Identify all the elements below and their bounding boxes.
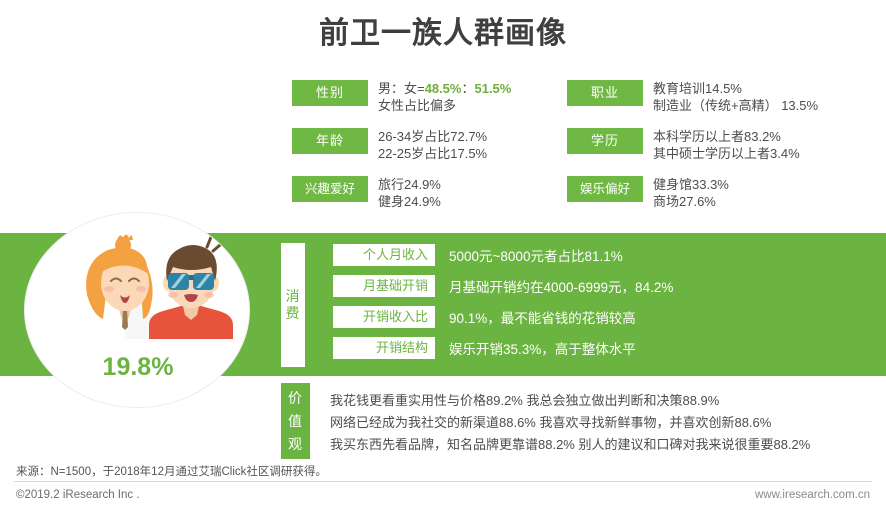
education-line-2: 其中硕士学历以上者3.4% [653, 145, 800, 162]
consumption-value-expense-ratio: 90.1%，最不能省钱的花销较高 [449, 307, 636, 327]
footer-url[interactable]: www.iresearch.com.cn [755, 489, 870, 501]
gender-note-line: 女性占比偏多 [378, 97, 511, 114]
attribute-badge-entertainment: 娱乐偏好 [567, 176, 643, 202]
audience-percent: 19.8% [25, 353, 250, 382]
attribute-cell-entertainment: 娱乐偏好 健身馆33.3% 商场27.6% [567, 176, 886, 210]
consumption-label-expense-ratio: 开销收入比 [333, 306, 435, 328]
consumption-label-char-1: 消费 [286, 288, 301, 321]
attribute-grid: 性别 男：女=48.5%：51.5% 女性占比偏多 职业 教育培训14.5% 制… [292, 80, 886, 224]
consumption-label-basic-expense: 月基础开销 [333, 275, 435, 297]
values-section-label: 价值观 [281, 383, 310, 459]
male-avatar-icon [149, 237, 233, 339]
audience-circle: 19.8% [24, 212, 250, 408]
attribute-cell-education: 学历 本科学历以上者83.2% 其中硕士学历以上者3.4% [567, 128, 886, 162]
consumption-label-expense-structure: 开销结构 [333, 337, 435, 359]
attribute-cell-occupation: 职业 教育培训14.5% 制造业（传统+高精） 13.5% [567, 80, 886, 114]
attribute-text-entertainment: 健身馆33.3% 商场27.6% [653, 176, 729, 210]
attribute-badge-education: 学历 [567, 128, 643, 154]
consumption-row: 开销结构 娱乐开销35.3%，高于整体水平 [333, 336, 873, 360]
gender-female-pct: 51.5% [474, 81, 511, 96]
attribute-text-interests: 旅行24.9% 健身24.9% [378, 176, 441, 210]
footer-source: 来源：N=1500，于2018年12月通过艾瑞Click社区调研获得。 [16, 463, 327, 479]
gender-ratio-line: 男：女=48.5%：51.5% [378, 80, 511, 97]
attribute-text-gender: 男：女=48.5%：51.5% 女性占比偏多 [378, 80, 511, 114]
consumption-row: 月基础开销 月基础开销约在4000-6999元，84.2% [333, 274, 873, 298]
attribute-cell-interests: 兴趣爱好 旅行24.9% 健身24.9% [292, 176, 567, 210]
consumption-rows: 个人月收入 5000元~8000元者占比81.1% 月基础开销 月基础开销约在4… [333, 243, 873, 367]
consumption-section-label: 消费 [281, 243, 305, 367]
gender-ratio-sep: ： [461, 81, 474, 96]
consumption-label-income: 个人月收入 [333, 244, 435, 266]
page-title: 前卫一族人群画像 [0, 8, 886, 52]
attribute-badge-gender: 性别 [292, 80, 368, 106]
attribute-badge-occupation: 职业 [567, 80, 643, 106]
attribute-badge-interests: 兴趣爱好 [292, 176, 368, 202]
age-line-1: 26-34岁占比72.7% [378, 128, 487, 145]
values-line-2: 网络已经成为我社交的新渠道88.6% 我喜欢寻找新鲜事物，并喜欢创新88.6% [330, 412, 886, 434]
entertainment-line-1: 健身馆33.3% [653, 176, 729, 193]
interests-line-1: 旅行24.9% [378, 176, 441, 193]
attribute-text-education: 本科学历以上者83.2% 其中硕士学历以上者3.4% [653, 128, 800, 162]
consumption-value-expense-structure: 娱乐开销35.3%，高于整体水平 [449, 338, 636, 358]
footer-divider [14, 481, 872, 482]
attribute-text-age: 26-34岁占比72.7% 22-25岁占比17.5% [378, 128, 487, 162]
gender-male-pct: 48.5% [425, 81, 462, 96]
consumption-row: 开销收入比 90.1%，最不能省钱的花销较高 [333, 305, 873, 329]
avatar-pair-illustration [25, 231, 250, 349]
age-line-2: 22-25岁占比17.5% [378, 145, 487, 162]
attribute-row: 性别 男：女=48.5%：51.5% 女性占比偏多 职业 教育培训14.5% 制… [292, 80, 886, 114]
consumption-section-label-text: 消费 [286, 288, 301, 322]
values-section-label-text: 价值观 [288, 387, 303, 456]
attribute-row: 兴趣爱好 旅行24.9% 健身24.9% 娱乐偏好 健身馆33.3% 商场27.… [292, 176, 886, 210]
footer-copyright: ©2019.2 iResearch Inc . [16, 489, 140, 501]
attribute-cell-age: 年龄 26-34岁占比72.7% 22-25岁占比17.5% [292, 128, 567, 162]
consumption-value-income: 5000元~8000元者占比81.1% [449, 245, 623, 265]
attribute-text-occupation: 教育培训14.5% 制造业（传统+高精） 13.5% [653, 80, 818, 114]
interests-line-2: 健身24.9% [378, 193, 441, 210]
values-lines: 我花钱更看重实用性与价格89.2% 我总会独立做出判断和决策88.9% 网络已经… [330, 390, 886, 456]
attribute-cell-gender: 性别 男：女=48.5%：51.5% 女性占比偏多 [292, 80, 567, 114]
occupation-line-2: 制造业（传统+高精） 13.5% [653, 97, 818, 114]
consumption-row: 个人月收入 5000元~8000元者占比81.1% [333, 243, 873, 267]
values-line-1: 我花钱更看重实用性与价格89.2% 我总会独立做出判断和决策88.9% [330, 390, 886, 412]
occupation-line-1: 教育培训14.5% [653, 80, 818, 97]
consumption-value-basic-expense: 月基础开销约在4000-6999元，84.2% [449, 276, 673, 296]
values-line-3: 我买东西先看品牌，知名品牌更靠谱88.2% 别人的建议和口碑对我来说很重要88.… [330, 434, 886, 456]
education-line-1: 本科学历以上者83.2% [653, 128, 800, 145]
attribute-row: 年龄 26-34岁占比72.7% 22-25岁占比17.5% 学历 本科学历以上… [292, 128, 886, 162]
attribute-badge-age: 年龄 [292, 128, 368, 154]
gender-ratio-prefix: 男：女= [378, 81, 425, 96]
entertainment-line-2: 商场27.6% [653, 193, 729, 210]
